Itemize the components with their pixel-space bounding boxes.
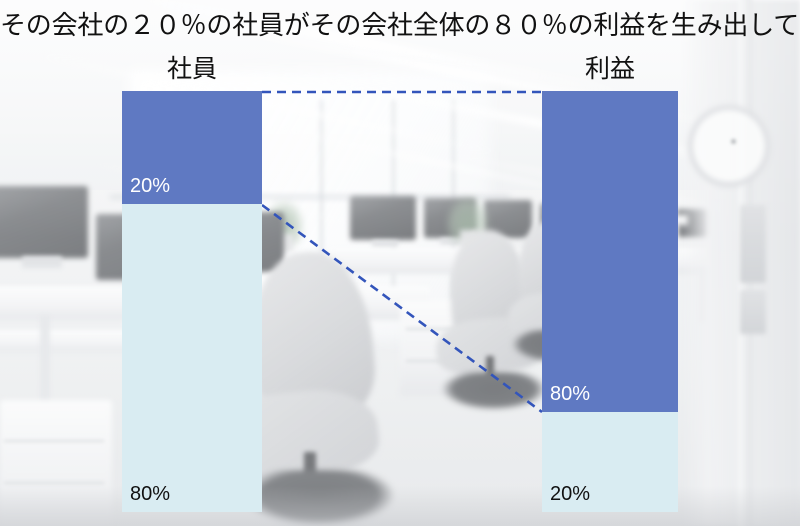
chart-overlay: その会社の２０％の社員がその会社全体の８０％の利益を生み出している 社員 利益 … <box>0 0 800 526</box>
page-title: その会社の２０％の社員がその会社全体の８０％の利益を生み出している <box>0 8 800 42</box>
bar-segment-label-profit-bottom-seg[interactable]: 20% <box>542 412 678 512</box>
bar-segment-label-profit-bottom: 20% <box>550 482 590 506</box>
bar-segment-label-profit-top: 80% <box>550 382 590 406</box>
connector-lines <box>0 0 800 526</box>
slide-canvas: その会社の２０％の社員がその会社全体の８０％の利益を生み出している 社員 利益 … <box>0 0 800 526</box>
category-label-employees: 社員 <box>122 53 262 85</box>
bar-profit[interactable]: 80% 20% <box>542 91 678 512</box>
bar-segment-employees-bottom[interactable]: 80% <box>122 204 262 512</box>
bar-segment-label-employees-bottom: 80% <box>130 482 170 506</box>
bar-segment-employees-top[interactable]: 20% <box>122 91 262 204</box>
bar-segment-label-employees-top: 20% <box>130 174 170 198</box>
bar-employees[interactable]: 20% 80% <box>122 91 262 512</box>
category-label-profit: 利益 <box>542 53 678 85</box>
diagonal-connector-dashed-line <box>262 205 542 412</box>
bar-segment-profit-top[interactable]: 80% <box>542 91 678 412</box>
